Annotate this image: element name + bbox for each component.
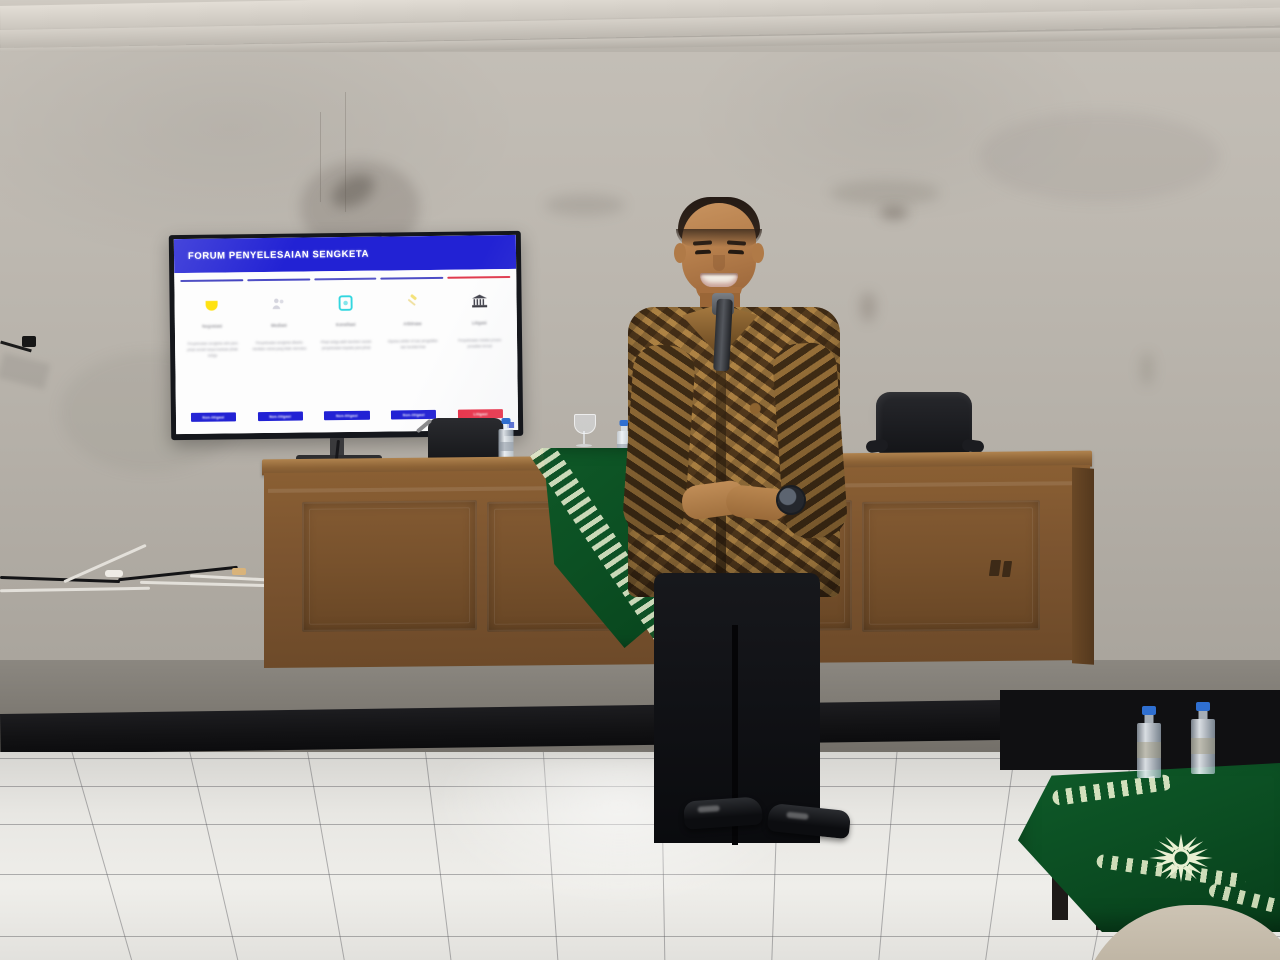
- people-icon: [270, 291, 288, 317]
- water-bottle[interactable]: [1136, 706, 1162, 778]
- ear-left: [674, 243, 686, 263]
- column-button[interactable]: Non-litigasi: [324, 411, 369, 421]
- column-description: Pihak ketiga aktif memberi usulan penyel…: [315, 332, 379, 411]
- column-button-label: Litigasi: [473, 412, 487, 416]
- courthouse-icon: [470, 289, 488, 315]
- column-rule: [180, 279, 243, 282]
- tv-display: FORUM PENYELESAIAN SENGKETA Negosiasi Pe…: [174, 235, 518, 434]
- water-bottle[interactable]: [1190, 702, 1216, 774]
- column-rule: [381, 277, 444, 280]
- column-button-label: Non-litigasi: [202, 415, 224, 419]
- column-button-label: Non-litigasi: [336, 413, 358, 417]
- gavel-icon: [403, 289, 421, 315]
- column-description: Penyelesaian melalui proses peradilan fo…: [448, 330, 512, 409]
- slide-columns: Negosiasi Penyelesaian sengketa oleh par…: [174, 269, 518, 434]
- column-label: Negosiasi: [202, 324, 222, 334]
- column-label: Mediasi: [271, 323, 287, 333]
- slide-header: FORUM PENYELESAIAN SENGKETA: [174, 235, 516, 273]
- handshake-icon: [203, 292, 221, 318]
- column-button-label: Non-litigasi: [269, 414, 291, 418]
- wall-stain: [1140, 352, 1154, 386]
- wall-bracket-head: [22, 336, 36, 347]
- nose: [713, 255, 725, 271]
- slide-title: FORUM PENYELESAIAN SENGKETA: [188, 248, 369, 261]
- wall-crack: [345, 92, 346, 212]
- column-description: Penyelesaian sengketa dibantu mediator n…: [248, 333, 312, 412]
- wall-shadow: [980, 112, 1220, 202]
- column-description: Diputus arbiter di luar pengadilan dan b…: [381, 331, 445, 410]
- photo-scene: FORUM PENYELESAIAN SENGKETA Negosiasi Pe…: [0, 0, 1280, 960]
- wall-stain: [326, 168, 380, 214]
- sun-ray-emblem: [1148, 832, 1214, 884]
- column-label: Konsiliasi: [336, 322, 356, 332]
- wall-stain: [545, 194, 625, 216]
- desk-panel: [302, 500, 477, 632]
- wall-stain: [880, 207, 908, 219]
- column-rule: [447, 276, 510, 279]
- column-rule: [314, 278, 377, 281]
- shoe-left: [683, 796, 763, 829]
- column-button[interactable]: Non-litigasi: [391, 410, 436, 420]
- column-description: Penyelesaian sengketa oleh para pihak se…: [181, 334, 245, 413]
- presenter: [620, 195, 880, 855]
- cable-connector: [105, 570, 123, 577]
- slide-column-mediasi: Mediasi Penyelesaian sengketa dibantu me…: [247, 278, 312, 429]
- slide-column-konsiliasi: Konsiliasi Pihak ketiga aktif memberi us…: [314, 278, 379, 429]
- hairline: [676, 229, 762, 247]
- slide-column-litigasi: Litigasi Penyelesaian melalui proses per…: [447, 276, 512, 427]
- glass-goblet[interactable]: [572, 414, 596, 450]
- slide-column-arbitrase: Arbitrase Diputus arbiter di luar pengad…: [381, 277, 446, 428]
- smiling-mouth: [700, 273, 738, 287]
- presentation-television[interactable]: FORUM PENYELESAIAN SENGKETA Negosiasi Pe…: [169, 231, 523, 440]
- desk-right-side: [1072, 467, 1094, 665]
- column-rule: [247, 278, 310, 281]
- office-chair-black[interactable]: [876, 392, 972, 454]
- slide-column-negosiasi: Negosiasi Penyelesaian sengketa oleh par…: [180, 279, 245, 430]
- column-button-label: Non-litigasi: [403, 413, 425, 417]
- column-label: Arbitrase: [403, 321, 422, 331]
- ear-right: [752, 243, 764, 263]
- slide: FORUM PENYELESAIAN SENGKETA Negosiasi Pe…: [174, 235, 518, 434]
- document-icon: [336, 290, 354, 316]
- desk-panel: [862, 500, 1040, 632]
- eye-left: [695, 250, 711, 255]
- column-button[interactable]: Non-litigasi: [191, 412, 236, 422]
- side-table-front-right: [1018, 752, 1280, 927]
- column-button[interactable]: Non-litigasi: [258, 412, 303, 422]
- eye-right: [728, 250, 744, 255]
- column-label: Litigasi: [472, 321, 487, 331]
- cable-adapter: [232, 568, 246, 575]
- wall-crack: [320, 112, 321, 202]
